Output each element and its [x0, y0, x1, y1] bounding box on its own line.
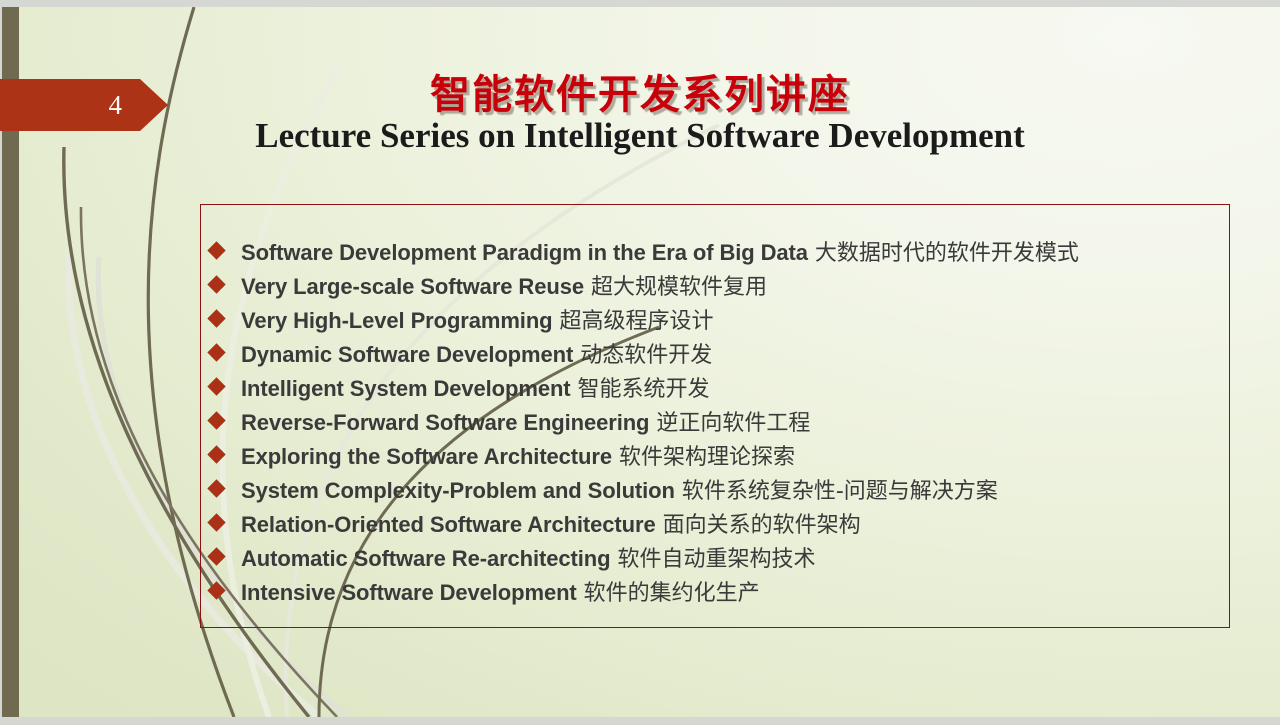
list-item-chinese: 超高级程序设计: [560, 309, 714, 334]
list-item-english: Exploring the Software Architecture: [241, 444, 612, 469]
list-item-chinese: 软件架构理论探索: [619, 445, 795, 470]
list-item: Intensive Software Development软件的集约化生产: [210, 575, 1230, 609]
list-item-chinese: 软件系统复杂性-问题与解决方案: [682, 479, 998, 504]
diamond-bullet-icon: [207, 411, 225, 429]
list-item: Relation-Oriented Software Architecture面…: [210, 507, 1230, 541]
list-item-english: Intensive Software Development: [241, 580, 577, 605]
list-item-english: Intelligent System Development: [241, 376, 571, 401]
diamond-bullet-icon: [207, 479, 225, 497]
list-item-text: Very Large-scale Software Reuse超大规模软件复用: [241, 269, 1230, 301]
list-item-text: Exploring the Software Architecture软件架构理…: [241, 439, 1230, 471]
diamond-bullet-icon: [207, 343, 225, 361]
list-item: Dynamic Software Development动态软件开发: [210, 337, 1230, 371]
slide-margin-top: [0, 0, 1280, 7]
list-item-text: Automatic Software Re-architecting软件自动重架…: [241, 541, 1230, 573]
list-item-chinese: 逆正向软件工程: [656, 411, 810, 436]
list-item: System Complexity-Problem and Solution软件…: [210, 473, 1230, 507]
diamond-bullet-icon: [207, 513, 225, 531]
list-item-chinese: 动态软件开发: [580, 343, 712, 368]
diamond-bullet-icon: [207, 547, 225, 565]
slide-margin-bottom: [0, 717, 1280, 725]
list-item-english: Automatic Software Re-architecting: [241, 546, 610, 571]
diamond-bullet-icon: [207, 241, 225, 259]
topic-list: Software Development Paradigm in the Era…: [210, 235, 1230, 609]
presentation-slide: 4 智能软件开发系列讲座 Lecture Series on Intellige…: [0, 0, 1280, 725]
list-item: Reverse-Forward Software Engineering逆正向软…: [210, 405, 1230, 439]
diamond-bullet-icon: [207, 309, 225, 327]
list-item-english: Software Development Paradigm in the Era…: [241, 240, 808, 265]
list-item-text: Intelligent System Development智能系统开发: [241, 371, 1230, 403]
list-item-text: System Complexity-Problem and Solution软件…: [241, 473, 1230, 505]
list-item: Exploring the Software Architecture软件架构理…: [210, 439, 1230, 473]
slide-title-english: Lecture Series on Intelligent Software D…: [0, 116, 1280, 156]
list-item-english: Very Large-scale Software Reuse: [241, 274, 584, 299]
list-item-english: Dynamic Software Development: [241, 342, 573, 367]
list-item-english: Relation-Oriented Software Architecture: [241, 512, 656, 537]
list-item-english: Very High-Level Programming: [241, 308, 553, 333]
list-item-chinese: 大数据时代的软件开发模式: [815, 241, 1079, 266]
list-item-text: Very High-Level Programming超高级程序设计: [241, 303, 1230, 335]
list-item-text: Dynamic Software Development动态软件开发: [241, 337, 1230, 369]
list-item-chinese: 超大规模软件复用: [591, 275, 767, 300]
list-item-text: Intensive Software Development软件的集约化生产: [241, 575, 1230, 607]
list-item-chinese: 面向关系的软件架构: [663, 513, 861, 538]
list-item: Automatic Software Re-architecting软件自动重架…: [210, 541, 1230, 575]
diamond-bullet-icon: [207, 377, 225, 395]
list-item: Very Large-scale Software Reuse超大规模软件复用: [210, 269, 1230, 303]
list-item-chinese: 软件的集约化生产: [584, 581, 760, 606]
list-item: Intelligent System Development智能系统开发: [210, 371, 1230, 405]
list-item-chinese: 软件自动重架构技术: [617, 547, 815, 572]
list-item-text: Software Development Paradigm in the Era…: [241, 235, 1230, 267]
list-item-english: System Complexity-Problem and Solution: [241, 478, 675, 503]
diamond-bullet-icon: [207, 581, 225, 599]
list-item-chinese: 智能系统开发: [578, 377, 710, 402]
list-item-english: Reverse-Forward Software Engineering: [241, 410, 649, 435]
list-item: Very High-Level Programming超高级程序设计: [210, 303, 1230, 337]
list-item-text: Relation-Oriented Software Architecture面…: [241, 507, 1230, 539]
list-item-text: Reverse-Forward Software Engineering逆正向软…: [241, 405, 1230, 437]
list-item: Software Development Paradigm in the Era…: [210, 235, 1230, 269]
diamond-bullet-icon: [207, 275, 225, 293]
slide-title-chinese: 智能软件开发系列讲座: [0, 62, 1280, 120]
diamond-bullet-icon: [207, 445, 225, 463]
